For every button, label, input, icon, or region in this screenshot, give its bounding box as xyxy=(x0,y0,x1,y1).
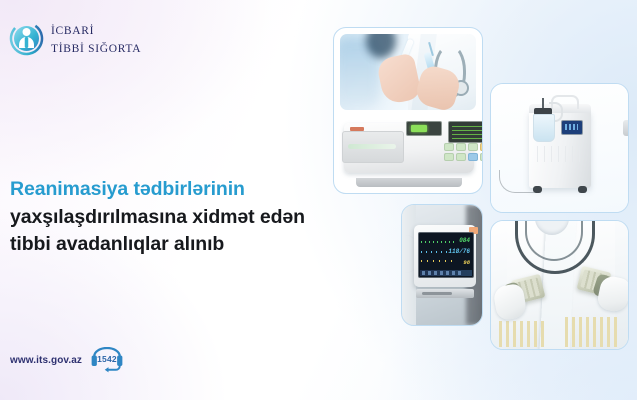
headline-line-3: tibbi avadanlıqlar alınıb xyxy=(10,231,340,259)
oxygen-concentrator-photo xyxy=(491,84,628,212)
defibrillator-paddles-card xyxy=(490,220,629,350)
headline: Reanimasiya tədbirlərinin yaxşılaşdırılm… xyxy=(10,176,340,259)
patient-monitor-photo: 084 118/76 98 xyxy=(402,205,482,325)
syringe-and-infusion-pump-photo xyxy=(334,28,482,193)
icbari-tibbi-sigorta-logo-icon xyxy=(9,21,44,56)
syringe-preparation-photo xyxy=(340,34,476,110)
patient-monitor-card: 084 118/76 98 xyxy=(401,204,483,326)
medical-equipment-gallery: 084 118/76 98 xyxy=(333,27,629,369)
website-link[interactable]: www.its.gov.az xyxy=(10,355,82,366)
brand-logo-text: İCBARİ TİBBİ SIĞORTA xyxy=(51,21,141,57)
infusion-pump-photo xyxy=(338,115,478,187)
monitor-spo2-value: 98 xyxy=(463,259,470,266)
hotline-number: 1542 xyxy=(89,347,125,373)
brand-name-line2: TİBBİ SIĞORTA xyxy=(51,43,141,55)
oxygen-concentrator-card xyxy=(490,83,629,213)
monitor-hr-value: 084 xyxy=(459,237,470,244)
headline-line-2: yaxşılaşdırılmasına xidmət edən xyxy=(10,204,340,232)
brand-name-line1: İCBARİ xyxy=(51,25,94,37)
headline-line-1: Reanimasiya tədbirlərinin xyxy=(10,176,340,204)
brand-logo[interactable]: İCBARİ TİBBİ SIĞORTA xyxy=(9,21,141,57)
footer: www.its.gov.az 1542 xyxy=(10,347,125,373)
hotline-badge[interactable]: 1542 xyxy=(89,347,125,373)
promo-banner: İCBARİ TİBBİ SIĞORTA Reanimasiya tədbirl… xyxy=(0,0,637,400)
monitor-nibp-value: 118/76 xyxy=(448,248,470,255)
syringe-and-infusion-pump-card xyxy=(333,27,483,194)
defibrillator-paddles-photo xyxy=(491,221,628,349)
